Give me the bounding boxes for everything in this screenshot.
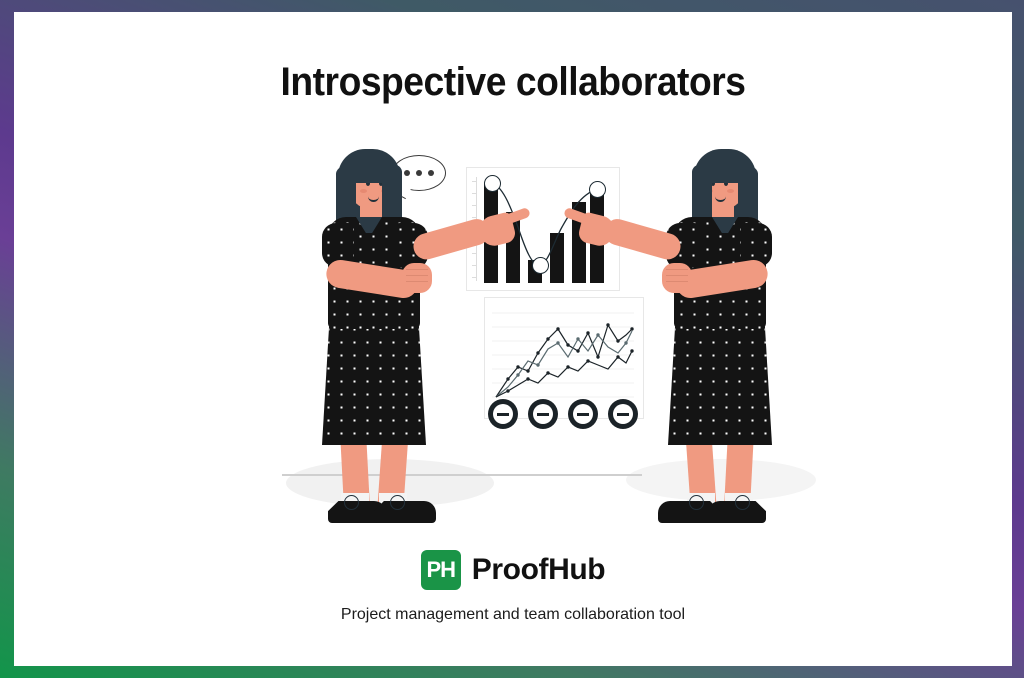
- pointing-arm: [601, 216, 683, 262]
- shoe-lace: [344, 495, 359, 510]
- left-person: [282, 137, 482, 497]
- skirt: [668, 323, 772, 445]
- minus-circle-icon[interactable]: [568, 399, 598, 429]
- page-canvas: Introspective collaborators: [14, 12, 1012, 666]
- footer: PH ProofHub Project management and team …: [14, 550, 1012, 624]
- illustration: [14, 137, 1012, 517]
- page-title: Introspective collaborators: [49, 60, 977, 105]
- chart-marker-3: [589, 181, 606, 198]
- minus-circle-icon[interactable]: [528, 399, 558, 429]
- skirt: [322, 323, 426, 445]
- shoe: [374, 501, 436, 523]
- page-frame: Introspective collaborators: [0, 0, 1024, 678]
- minus-circle-icon[interactable]: [488, 399, 518, 429]
- brand-name: ProofHub: [472, 553, 605, 587]
- folded-hand: [662, 263, 692, 293]
- chart-marker-2: [532, 257, 549, 274]
- shoe-lace: [735, 495, 750, 510]
- proofhub-logo-icon: PH: [421, 550, 461, 590]
- shoe-lace: [390, 495, 405, 510]
- brand-lockup: PH ProofHub: [14, 550, 1012, 590]
- right-person: [612, 137, 812, 497]
- shoe-lace: [689, 495, 704, 510]
- folded-hand: [402, 263, 432, 293]
- tagline: Project management and team collaboratio…: [14, 606, 1012, 624]
- chart-marker-1: [484, 175, 501, 192]
